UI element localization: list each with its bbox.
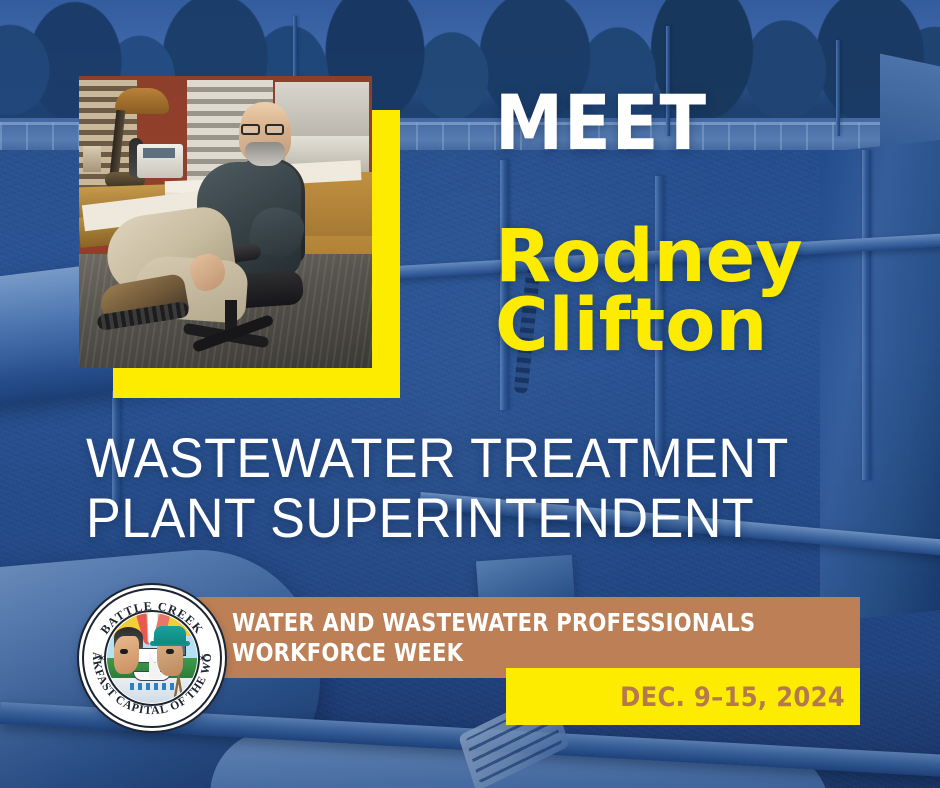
photo-coffee-cup [83, 146, 101, 172]
photo-person-glasses-right-lens [265, 124, 284, 135]
campaign-banner-text: WATER AND WASTEWATER PROFESSIONALS WORKF… [232, 608, 755, 668]
poster-canvas: MEET Rodney Clifton WASTEWATER TREATMENT… [0, 0, 940, 788]
photo-person-glasses-left-lens [241, 124, 260, 135]
headline-meet: MEET [495, 88, 707, 158]
job-title: WASTEWATER TREATMENT PLANT SUPERINTENDEN… [86, 428, 830, 548]
person-name: Rodney Clifton [495, 222, 803, 361]
seal-star-right-icon: ✶ [198, 652, 207, 665]
seal-top-arc-text: BATTLE CREEK [98, 599, 207, 637]
campaign-banner: WATER AND WASTEWATER PROFESSIONALS WORKF… [188, 597, 860, 678]
photo-phone-display [143, 148, 175, 158]
seal-star-left-icon: ✶ [97, 652, 106, 665]
seal-top-arc-textpath: BATTLE CREEK [98, 599, 207, 637]
date-badge-text: DEC. 9–15, 2024 [620, 682, 845, 713]
person-photo [79, 76, 372, 368]
date-badge: DEC. 9–15, 2024 [506, 668, 860, 725]
battle-creek-city-seal: BATTLE CREEK BREAKFAST CAPITAL OF THE WO… [79, 585, 225, 731]
photo-person-beard [245, 142, 285, 166]
